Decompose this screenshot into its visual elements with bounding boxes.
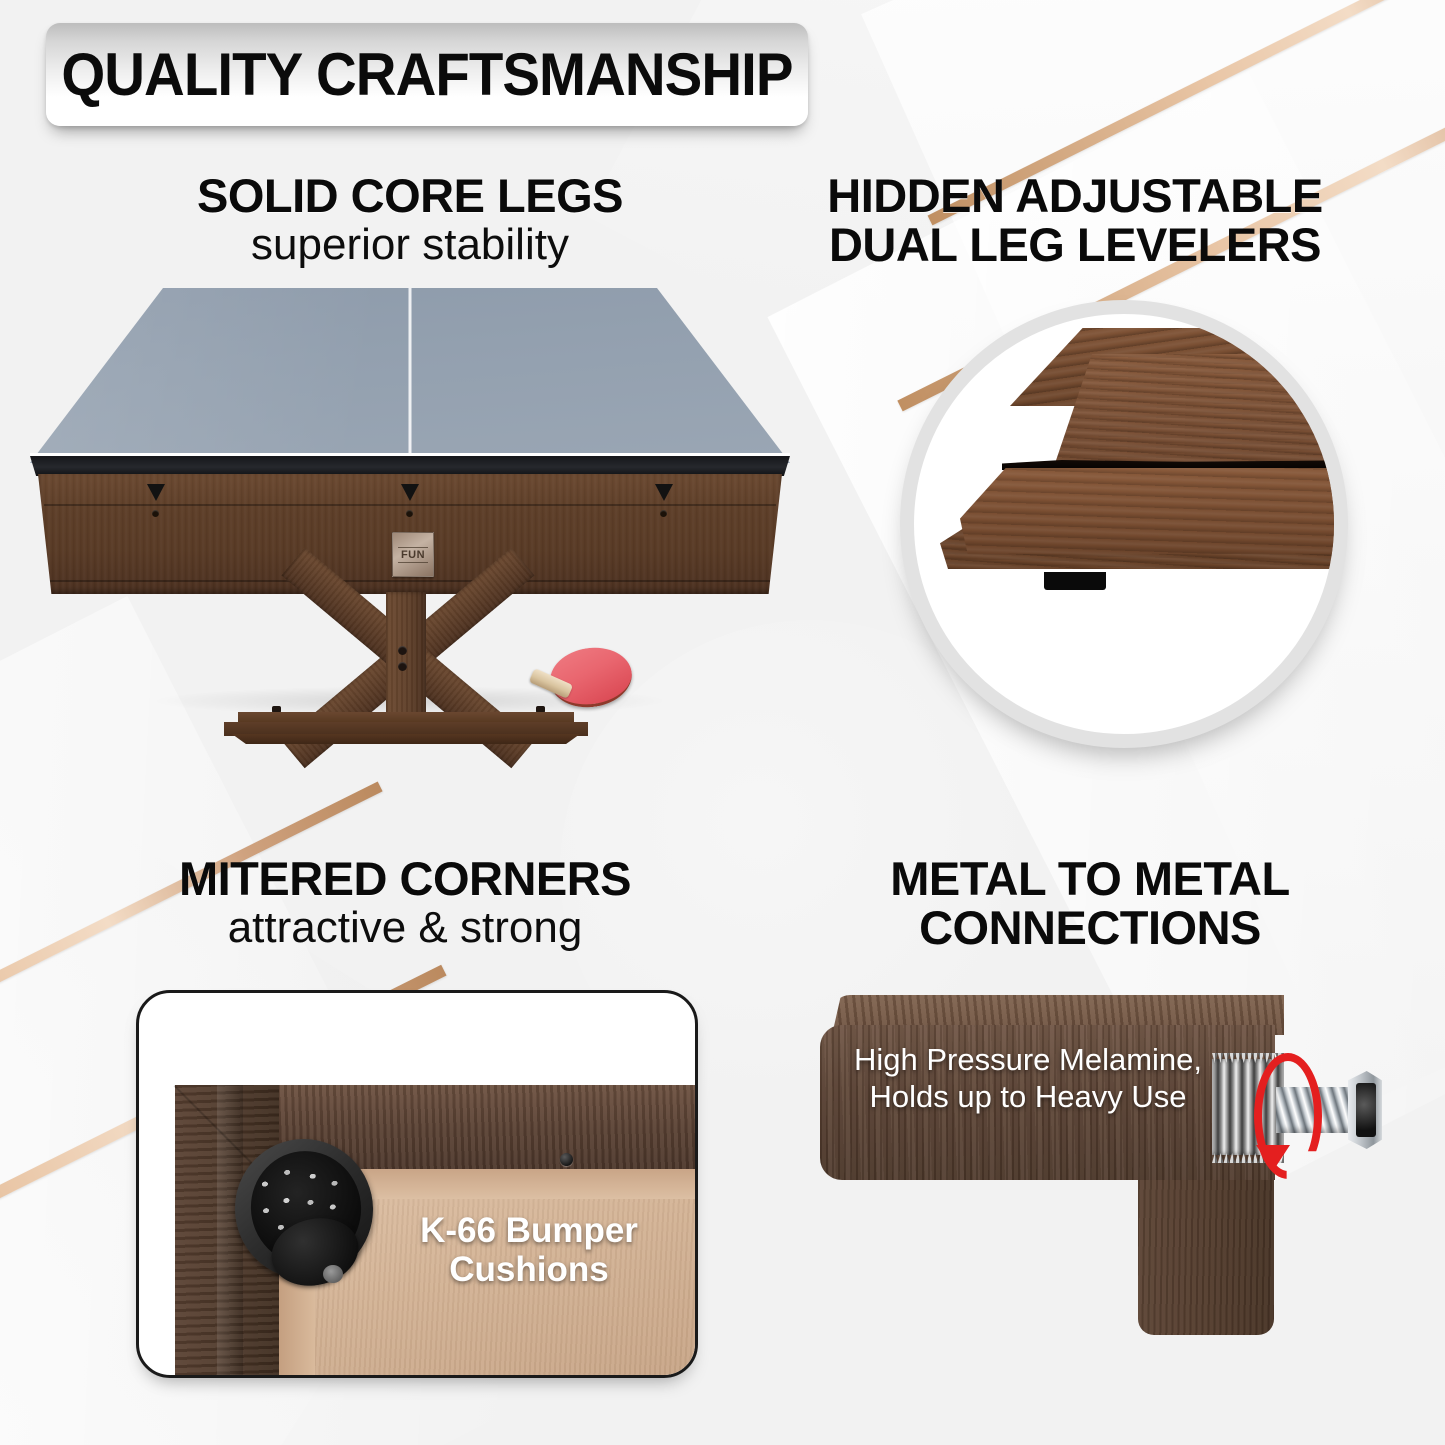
apron-bolt-head	[660, 510, 667, 517]
wood-leg-vertical	[1138, 1175, 1274, 1335]
heading-mitered-corners: MITERED CORNERS attractive & strong	[40, 855, 770, 951]
heading-line-2: CONNECTIONS	[760, 904, 1420, 953]
metal-connection-diagram: High Pressure Melamine, Holds up to Heav…	[820, 995, 1380, 1335]
caption-line-1: K-66 Bumper	[379, 1211, 679, 1250]
heading-line-1: METAL TO METAL	[760, 855, 1420, 904]
bumper-cushion-caption: K-66 Bumper Cushions	[379, 1211, 679, 1289]
caption-line-2: Cushions	[379, 1250, 679, 1289]
heading-line-1: HIDDEN ADJUSTABLE	[745, 172, 1405, 221]
bumper-cushion-screw	[323, 1265, 343, 1283]
heading-subtitle: attractive & strong	[40, 904, 770, 952]
hex-bolt-head-socket	[1356, 1083, 1376, 1137]
leveler-adjuster-tab	[1044, 572, 1106, 590]
brand-badge-plate: FUN	[392, 532, 434, 577]
apron-seam-upper	[44, 504, 776, 506]
apron-bolt-head	[152, 510, 159, 517]
plinth-middle-step	[224, 722, 588, 736]
table-center-line	[409, 288, 412, 460]
ping-pong-table-image: FUN	[30, 288, 790, 738]
heading-dual-leg-levelers: HIDDEN ADJUSTABLE DUAL LEG LEVELERS	[745, 172, 1405, 270]
heading-line-1: MITERED CORNERS	[40, 855, 770, 904]
header-banner: QUALITY CRAFTSMANSHIP	[46, 23, 808, 126]
melamine-caption: High Pressure Melamine, Holds up to Heav…	[848, 1041, 1208, 1115]
caption-line-1: High Pressure Melamine,	[848, 1041, 1208, 1078]
banner-title: QUALITY CRAFTSMANSHIP	[61, 40, 792, 109]
corner-screw-head	[560, 1153, 573, 1166]
mitered-corner-card: K-66 Bumper Cushions	[136, 990, 698, 1378]
trestle-center-post	[386, 592, 426, 720]
heading-subtitle: superior stability	[60, 221, 760, 269]
infographic-canvas: QUALITY CRAFTSMANSHIP SOLID CORE LEGS su…	[0, 0, 1445, 1445]
trestle-bolt-head	[398, 662, 407, 671]
apron-seam-lower	[50, 580, 770, 582]
heading-solid-core-legs: SOLID CORE LEGS superior stability	[60, 172, 760, 268]
rotation-arrow-head-icon	[1256, 1145, 1290, 1171]
heading-line-1: SOLID CORE LEGS	[60, 172, 760, 221]
trestle-bolt-head	[398, 646, 407, 655]
leg-leveler-medallion	[900, 300, 1348, 748]
brand-badge-text: FUN	[398, 547, 428, 563]
table-x-trestle-base	[216, 588, 596, 728]
plinth-bottom-step	[232, 734, 580, 744]
heading-line-2: DUAL LEG LEVELERS	[745, 221, 1405, 270]
heading-metal-to-metal: METAL TO METAL CONNECTIONS	[760, 855, 1420, 953]
apron-bolt-head	[406, 510, 413, 517]
caption-line-2: Holds up to Heavy Use	[848, 1078, 1208, 1115]
table-black-rail	[30, 456, 790, 476]
